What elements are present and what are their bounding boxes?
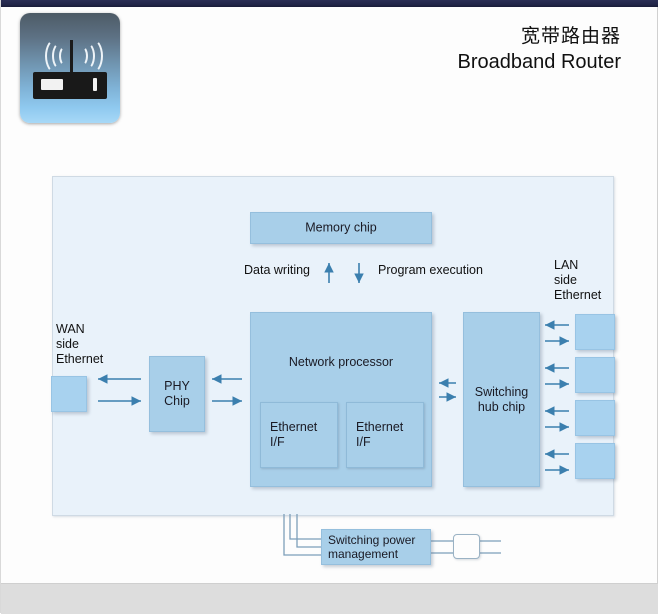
page-root: 宽带路由器 Broadband Router: [0, 0, 658, 613]
switching-hub-chip-label: Switchinghub chip: [464, 385, 539, 415]
lan-ethernet-port-2[interactable]: [575, 357, 615, 393]
ethernet-if-label-1: EthernetI/F: [270, 420, 317, 450]
router-block-diagram: Memory chip Network processor EthernetI/…: [1, 0, 658, 613]
network-processor-label: Network processor: [251, 355, 431, 370]
switching-power-management-label: Switching powermanagement: [328, 533, 426, 561]
wan-side-ethernet-label: WANsideEthernet: [56, 322, 103, 367]
program-execution-label: Program execution: [378, 263, 483, 278]
ethernet-if-block-1[interactable]: EthernetI/F: [260, 402, 338, 468]
phy-chip-block[interactable]: PHYChip: [149, 356, 205, 432]
ethernet-if-label-2: EthernetI/F: [356, 420, 403, 450]
bottom-panel: [1, 583, 658, 614]
switching-power-management-block[interactable]: Switching powermanagement: [321, 529, 431, 565]
lan-ethernet-port-4[interactable]: [575, 443, 615, 479]
lan-side-ethernet-label: LANsideEthernet: [554, 258, 601, 303]
lan-ethernet-port-3[interactable]: [575, 400, 615, 436]
lan-ethernet-port-1[interactable]: [575, 314, 615, 350]
ethernet-if-block-2[interactable]: EthernetI/F: [346, 402, 424, 468]
data-writing-label: Data writing: [244, 263, 310, 278]
phy-chip-label: PHYChip: [150, 379, 204, 409]
wan-ethernet-port[interactable]: [51, 376, 87, 412]
memory-chip-block[interactable]: Memory chip: [250, 212, 432, 244]
memory-chip-label: Memory chip: [251, 221, 431, 236]
power-connector-icon: [453, 534, 480, 559]
switching-hub-chip-block[interactable]: Switchinghub chip: [463, 312, 540, 487]
